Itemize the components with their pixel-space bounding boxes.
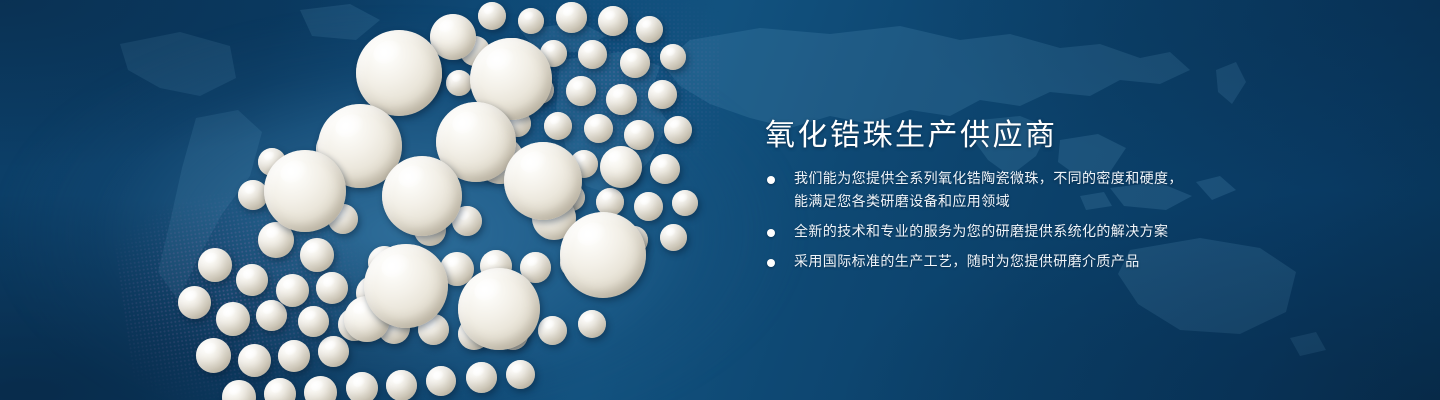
list-item: 我们能为您提供全系列氧化锆陶瓷微珠，不同的密度和硬度， 能满足您各类研磨设备和应… (767, 168, 1327, 214)
bullet-dot-icon (767, 229, 775, 237)
list-item-line1: 采用国际标准的生产工艺，随时为您提供研磨介质产品 (794, 254, 1140, 270)
list-item: 全新的技术和专业的服务为您的研磨提供系统化的解决方案 (767, 221, 1327, 244)
feature-list: 我们能为您提供全系列氧化锆陶瓷微珠，不同的密度和硬度， 能满足您各类研磨设备和应… (767, 168, 1327, 281)
list-item-line2: 能满足您各类研磨设备和应用领域 (794, 191, 1327, 214)
banner-text-block: 氧化锆珠生产供应商 我们能为您提供全系列氧化锆陶瓷微珠，不同的密度和硬度， 能满… (765, 0, 1385, 400)
zirconia-beads-image (0, 0, 760, 400)
bullet-dot-icon (767, 259, 775, 267)
page-title: 氧化锆珠生产供应商 (765, 110, 1058, 154)
bullet-dot-icon (767, 176, 775, 184)
list-item: 采用国际标准的生产工艺，随时为您提供研磨介质产品 (767, 251, 1327, 274)
list-item-line1: 我们能为您提供全系列氧化锆陶瓷微珠，不同的密度和硬度， (794, 171, 1183, 187)
list-item-line1: 全新的技术和专业的服务为您的研磨提供系统化的解决方案 (794, 224, 1168, 240)
hero-banner: 氧化锆珠生产供应商 我们能为您提供全系列氧化锆陶瓷微珠，不同的密度和硬度， 能满… (0, 0, 1440, 400)
